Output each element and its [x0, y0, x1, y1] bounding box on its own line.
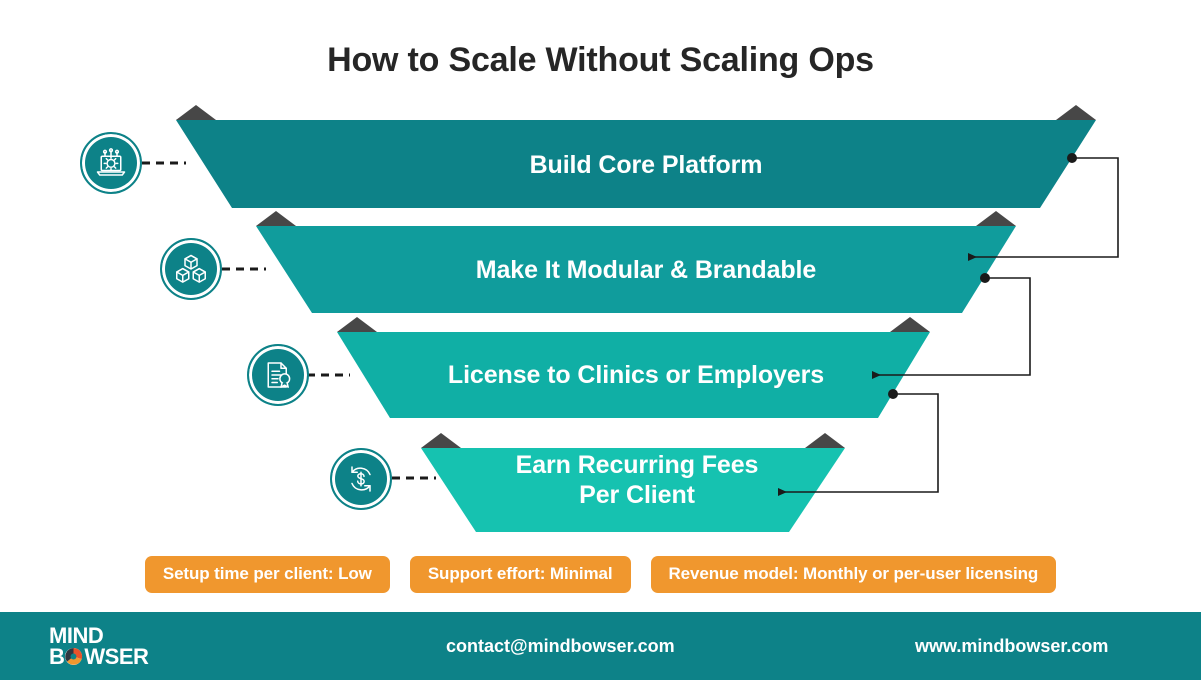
funnel-step-4-corner-left-tri	[421, 433, 461, 448]
logo-line-1: MIND	[49, 625, 103, 646]
funnel-step-2-corner-right-tri	[976, 211, 1016, 226]
badge-support-effort[interactable]: Support effort: Minimal	[410, 556, 631, 593]
infographic-canvas: How to Scale Without Scaling Ops	[0, 0, 1201, 680]
footer-website[interactable]: www.mindbowser.com	[915, 636, 1108, 657]
mindbowser-logo[interactable]: MIND B WSER	[49, 625, 179, 667]
footer-email[interactable]: contact@mindbowser.com	[446, 636, 675, 657]
badge-revenue-model[interactable]: Revenue model: Monthly or per-user licen…	[651, 556, 1057, 593]
modular-blocks-icon	[173, 251, 209, 287]
funnel-step-1-shape[interactable]	[176, 120, 1096, 208]
funnel-step-2-shape[interactable]	[256, 226, 1016, 313]
badge-setup-time[interactable]: Setup time per client: Low	[145, 556, 390, 593]
laptop-gear-icon	[93, 145, 129, 181]
funnel-step-2-corner-left-tri	[256, 211, 296, 226]
funnel-step-1-corner-left-tri	[176, 105, 216, 120]
summary-badges: Setup time per client: Low Support effor…	[0, 556, 1201, 593]
funnel-step-4-shape[interactable]	[421, 448, 845, 532]
funnel-step-4-corner-right-tri	[805, 433, 845, 448]
logo-circle-mark	[64, 647, 83, 666]
logo-line-2-suffix: WSER	[84, 646, 148, 667]
recurring-revenue-icon	[343, 461, 379, 497]
footer-bar: MIND B WSER contact@mindbowser.com www.m…	[0, 612, 1201, 680]
funnel-step-1-corner-right-tri	[1056, 105, 1096, 120]
funnel-step-3-corner-left-tri	[337, 317, 377, 332]
funnel-step-2-icon-badge[interactable]	[160, 238, 222, 300]
funnel-step-3-shape[interactable]	[337, 332, 930, 418]
logo-line-2-prefix: B	[49, 646, 64, 667]
funnel-step-4-icon-badge[interactable]	[330, 448, 392, 510]
funnel-step-3-corner-right-tri	[890, 317, 930, 332]
funnel-step-3-icon-badge[interactable]	[247, 344, 309, 406]
funnel-step-1-icon-badge[interactable]	[80, 132, 142, 194]
license-certificate-icon	[260, 357, 296, 393]
